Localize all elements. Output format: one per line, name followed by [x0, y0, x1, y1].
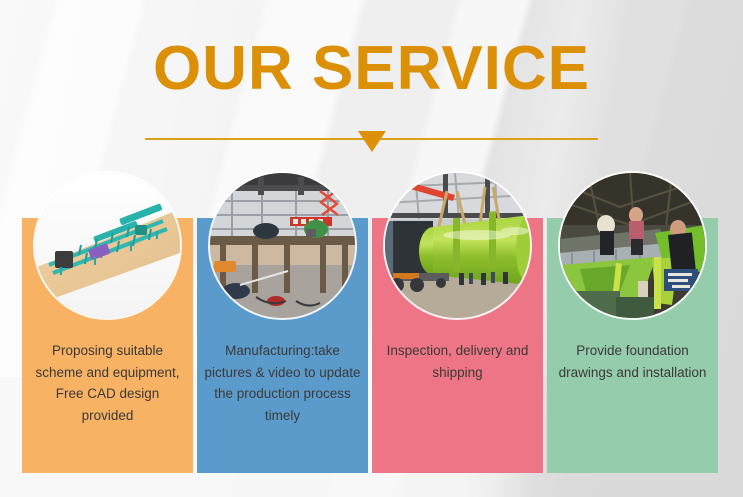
service-card-4-text: Provide foundation drawings and installa…: [553, 340, 712, 383]
rotary-drum-shipping-photo: [385, 173, 530, 318]
page-title: OUR SERVICE: [0, 33, 743, 105]
service-card-2-text: Manufacturing:take pictures & video to u…: [203, 340, 362, 426]
divider-triangle-icon: [358, 131, 386, 152]
service-card-3-text: Inspection, delivery and shipping: [378, 340, 537, 383]
cad-production-line-photo: [35, 173, 180, 318]
factory-workshop-photo: [210, 173, 355, 318]
onsite-installation-photo: [560, 173, 705, 318]
our-service-banner: OUR SERVICE Proposing suitable scheme an…: [0, 0, 743, 497]
service-card-1-text: Proposing suitable scheme and equipment,…: [28, 340, 187, 426]
